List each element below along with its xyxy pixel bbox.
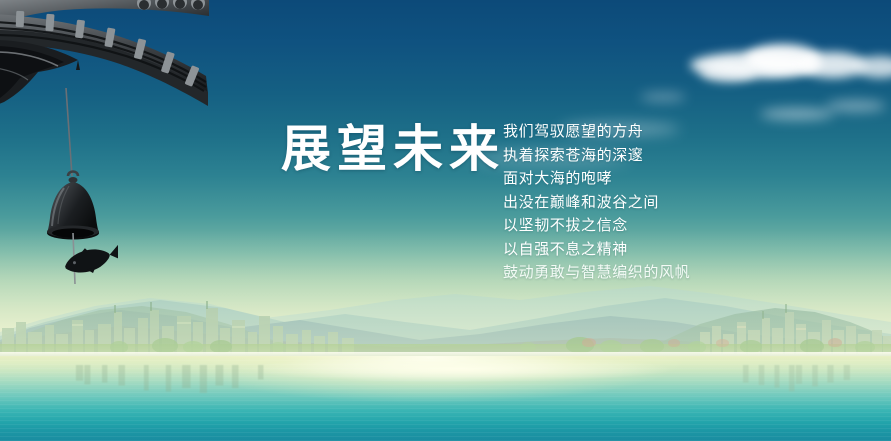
poem-line: 以坚韧不拔之信念 bbox=[503, 214, 823, 238]
page-title: 展望未来 bbox=[281, 120, 505, 178]
poem-block: 我们驾驭愿望的方舟 执着探索苍海的深邃 面对大海的咆哮 出没在巅峰和波谷之间 以… bbox=[503, 120, 823, 285]
poem-line: 以自强不息之精神 bbox=[503, 238, 823, 262]
water-surface bbox=[0, 356, 891, 441]
banner-image: 展望未来 我们驾驭愿望的方舟 执着探索苍海的深邃 面对大海的咆哮 出没在巅峰和波… bbox=[0, 0, 891, 441]
water-glow bbox=[250, 356, 670, 382]
poem-line: 面对大海的咆哮 bbox=[503, 167, 823, 191]
poem-line: 执着探索苍海的深邃 bbox=[503, 144, 823, 168]
poem-line: 鼓动勇敢与智慧编织的风帆 bbox=[503, 261, 823, 285]
water-ripples bbox=[0, 356, 891, 441]
poem-line: 我们驾驭愿望的方舟 bbox=[503, 120, 823, 144]
poem-line: 出没在巅峰和波谷之间 bbox=[503, 191, 823, 215]
